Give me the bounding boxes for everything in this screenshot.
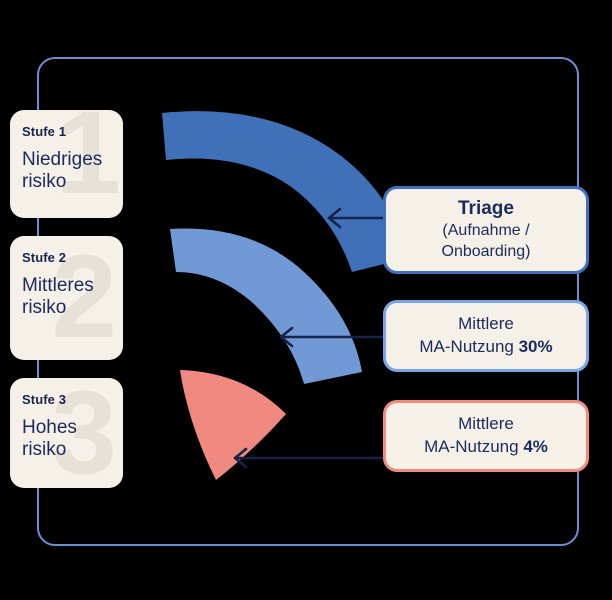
stage-kicker-3: Stufe 3 <box>22 392 111 407</box>
callout-triage-subline-2: Onboarding) <box>442 242 531 263</box>
callout-usage-medium-line-2: MA-Nutzung 30% <box>419 336 552 359</box>
callout-triage[interactable]: Triage (Aufnahme / Onboarding) <box>383 186 589 274</box>
diagram-root: 1 Stufe 1 Niedriges risiko 2 Stufe 2 Mit… <box>0 0 612 600</box>
callout-usage-medium-label: MA-Nutzung <box>419 337 518 356</box>
stage-label-1: Niedriges risiko <box>22 149 111 194</box>
callout-usage-low-value: 4% <box>523 437 548 456</box>
stage-card-2[interactable]: 2 Stufe 2 Mittleres risiko <box>10 236 123 360</box>
stage-label-3: Hohes risiko <box>22 417 111 462</box>
stage-kicker-1: Stufe 1 <box>22 124 111 139</box>
stage-kicker-2: Stufe 2 <box>22 250 111 265</box>
callout-usage-medium-value: 30% <box>519 337 553 356</box>
callout-usage-medium[interactable]: Mittlere MA-Nutzung 30% <box>383 300 589 372</box>
callout-usage-low-label: MA-Nutzung <box>424 437 523 456</box>
stage-label-2: Mittleres risiko <box>22 275 111 320</box>
stage-card-1[interactable]: 1 Stufe 1 Niedriges risiko <box>10 110 123 218</box>
callout-usage-medium-line-1: Mittlere <box>458 313 514 336</box>
stage-card-3[interactable]: 3 Stufe 3 Hohes risiko <box>10 378 123 488</box>
callout-usage-low-line-1: Mittlere <box>458 413 514 436</box>
callout-usage-low-line-2: MA-Nutzung 4% <box>424 436 548 459</box>
callout-triage-title: Triage <box>458 197 514 221</box>
callout-usage-low[interactable]: Mittlere MA-Nutzung 4% <box>383 400 589 472</box>
callout-triage-subline-1: (Aufnahme / <box>442 221 529 242</box>
